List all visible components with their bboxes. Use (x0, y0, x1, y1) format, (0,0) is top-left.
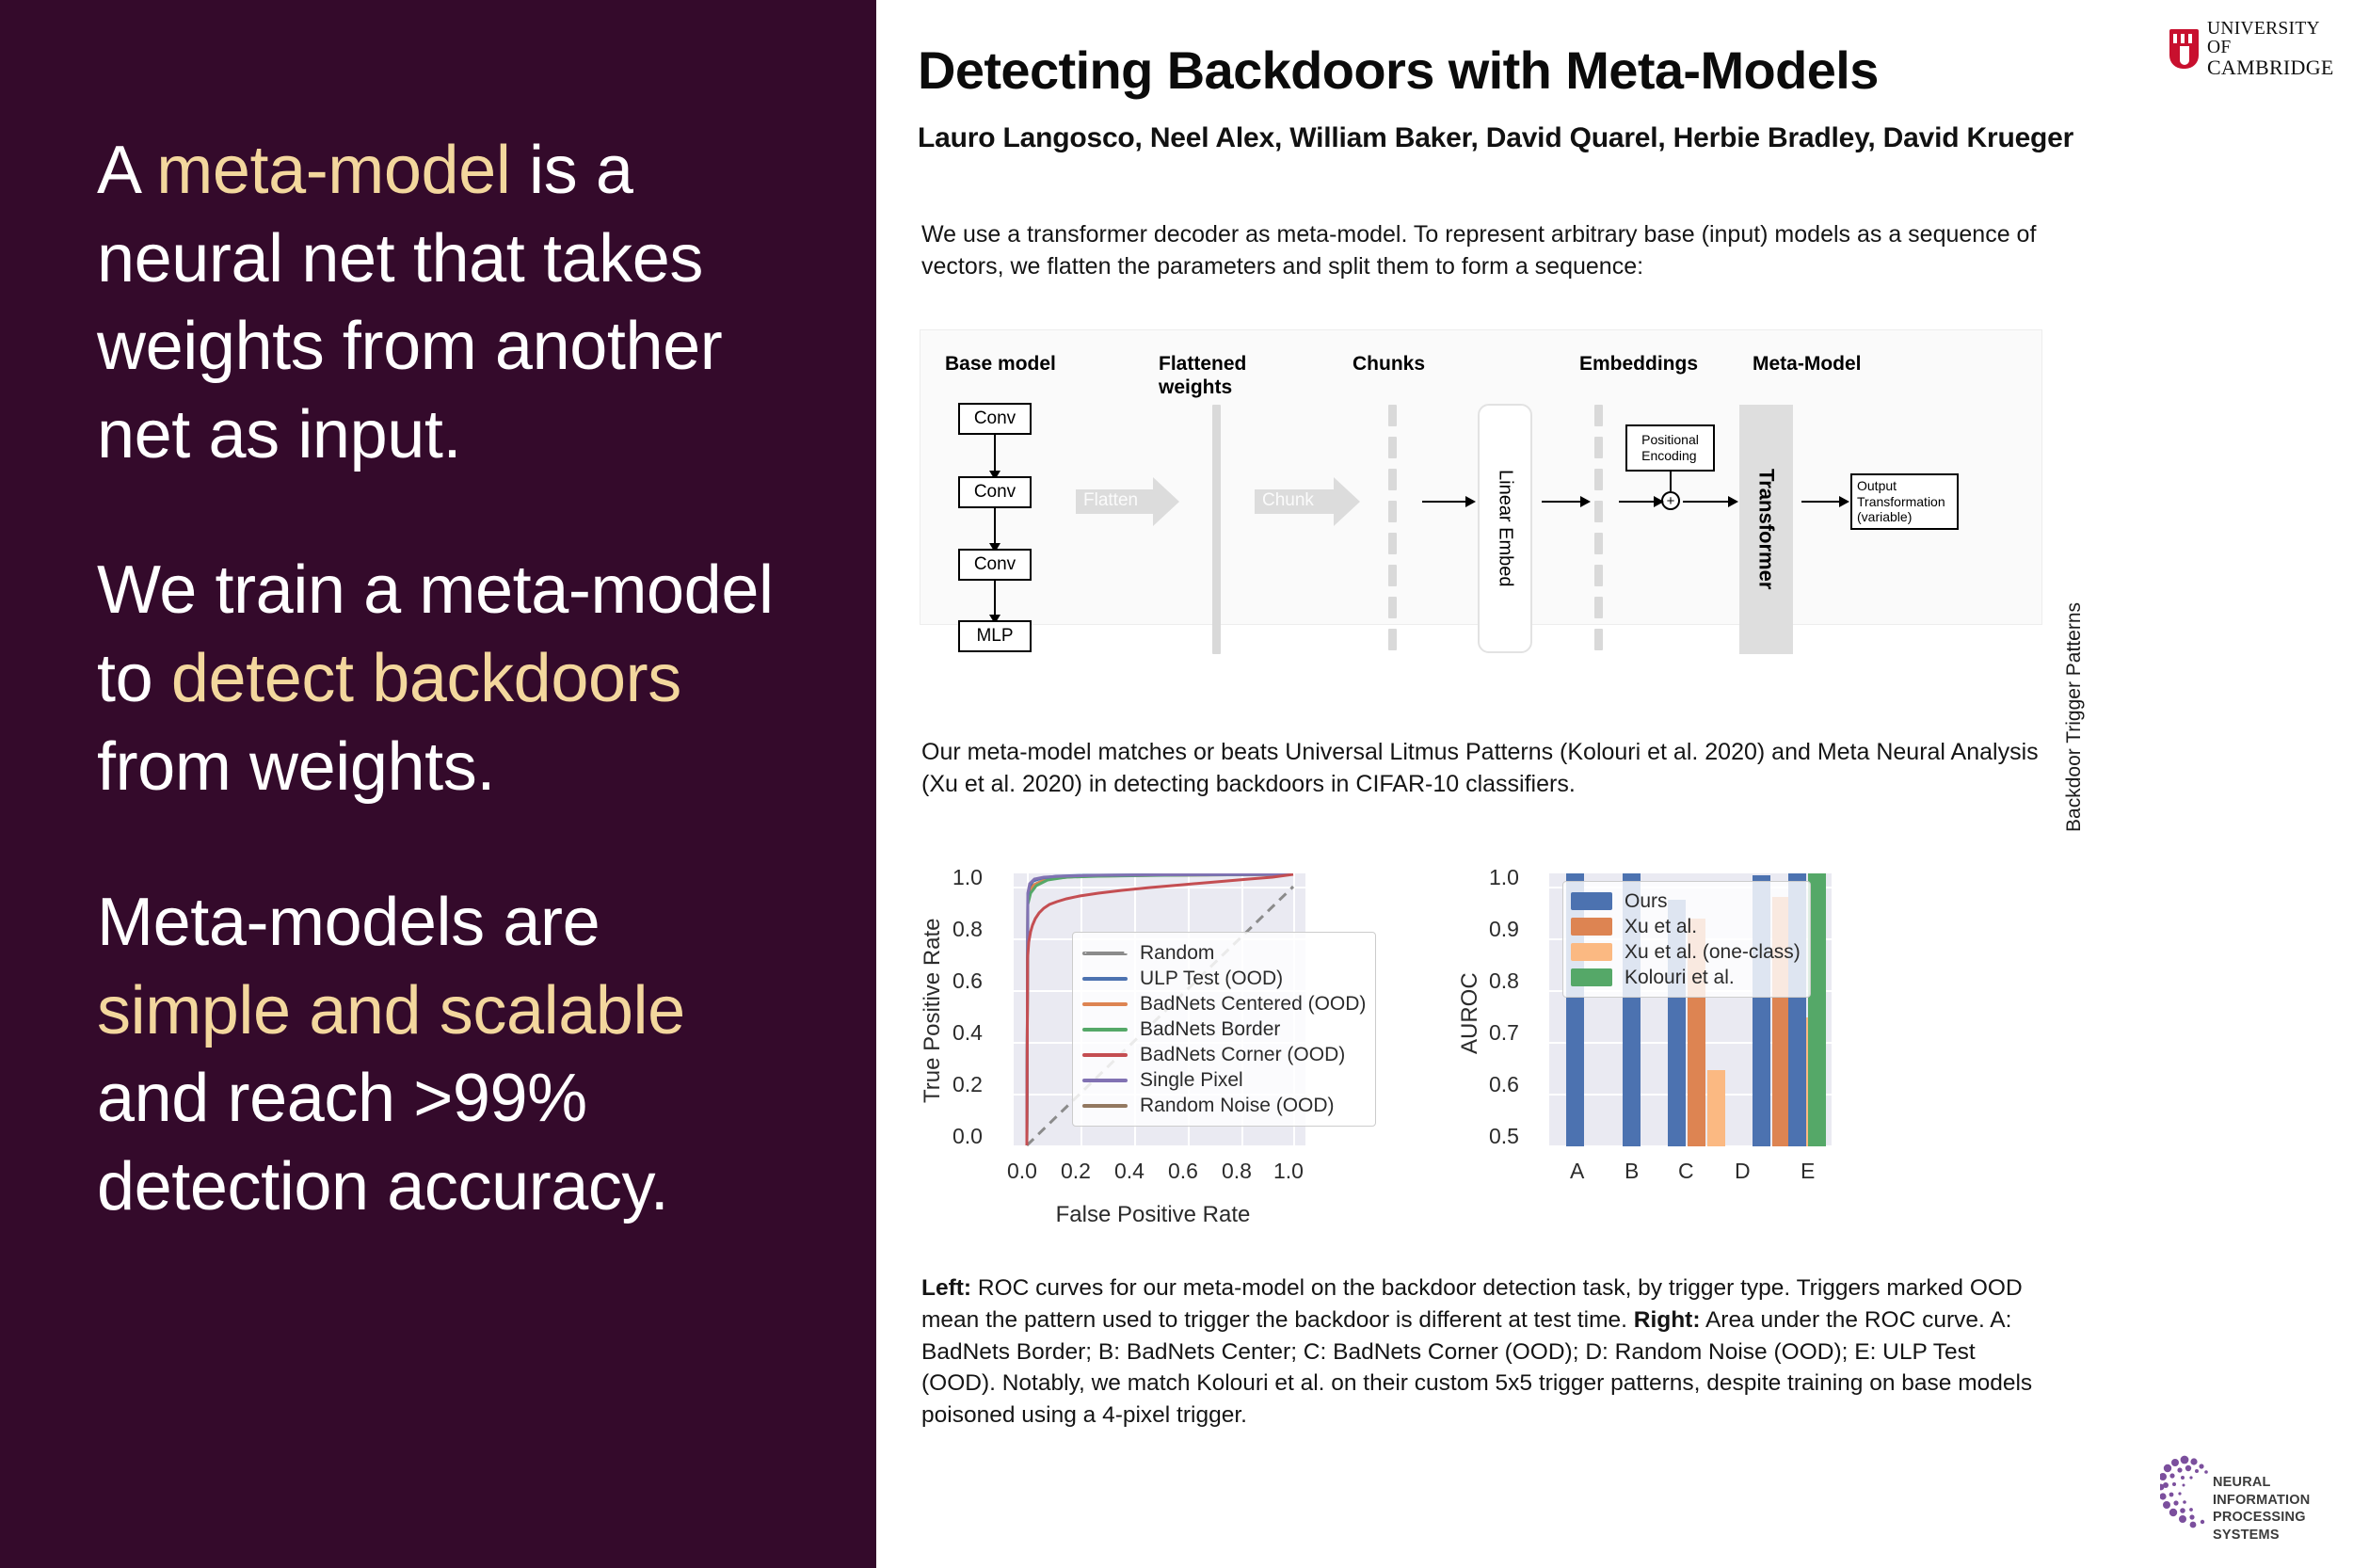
diagram-box-positional-encoding: Positional Encoding (1625, 424, 1715, 472)
diagram-connector-pe-plus (1670, 472, 1672, 491)
bar-legend-item-kolouri: Kolouri et al. (1571, 965, 1801, 990)
diagram-plus-node: + (1661, 491, 1680, 510)
architecture-diagram: Base model Flattened weights Chunks Embe… (920, 329, 2042, 625)
tagline-1: A meta-model is a neural net that takes … (97, 127, 782, 479)
legend-chip-ours (1571, 892, 1612, 910)
tagline-3-accent: simple and scalable (97, 973, 685, 1048)
bar-ytick-1: 0.6 (1489, 1072, 1519, 1097)
bar-legend: Ours Xu et al. Xu et al. (one-class) Kol… (1562, 881, 1811, 998)
bar-ytick-0: 0.5 (1489, 1124, 1519, 1149)
diagram-box-conv-3: Conv (958, 549, 1032, 581)
diagram-arrow-conv2-conv3 (994, 508, 996, 544)
sidebar-vertical-label: Backdoor Trigger Patterns (2063, 602, 2086, 832)
roc-legend-item-ulp: ULP Test (OOD) (1082, 966, 1366, 991)
diagram-chunks-column (1388, 405, 1397, 661)
page-title: Detecting Backdoors with Meta-Models (918, 40, 2132, 101)
roc-xtick-4: 0.8 (1222, 1159, 1252, 1184)
bar-ytick-3: 0.8 (1489, 968, 1519, 994)
diagram-heading-embeddings: Embeddings (1579, 353, 1698, 376)
tagline-1-accent: meta-model (156, 133, 510, 208)
auroc-bar-chart: AUROC 0.5 0.6 0.7 0.8 0.9 1.0 (1455, 847, 1926, 1242)
bar-E-kolouri (1808, 873, 1826, 1146)
diagram-arrow-plus-to-transformer (1683, 501, 1729, 503)
neurips-logo: NEURAL INFORMATION PROCESSING SYSTEMS (2160, 1449, 2348, 1534)
roc-legend-item-random-noise: Random Noise (OOD) (1082, 1093, 1366, 1118)
diagram-box-conv-2: Conv (958, 476, 1032, 508)
roc-xtick-3: 0.6 (1168, 1159, 1198, 1184)
main-content-column: Detecting Backdoors with Meta-Models Lau… (876, 0, 2147, 1568)
bar-ytick-4: 0.9 (1489, 917, 1519, 942)
diagram-box-mlp: MLP (958, 620, 1032, 652)
left-highlights-panel: A meta-model is a neural net that takes … (0, 0, 876, 1568)
roc-legend: Random ULP Test (OOD) BadNets Centered (… (1072, 932, 1376, 1127)
legend-chip-kolouri (1571, 968, 1612, 986)
neurips-swirl-icon (2160, 1455, 2217, 1528)
diagram-box-conv-1: Conv (958, 403, 1032, 435)
diagram-arrow-flatten: Flatten (1076, 477, 1179, 526)
diagram-arrow-conv1-conv2 (994, 435, 996, 472)
neurips-logo-line1: NEURAL INFORMATION (2213, 1474, 2348, 1509)
roc-legend-item-single-pixel: Single Pixel (1082, 1067, 1366, 1093)
neurips-logo-line2: PROCESSING SYSTEMS (2213, 1509, 2348, 1544)
bar-xtick-B: B (1625, 1159, 1639, 1184)
roc-curve-chart: True Positive Rate False Positive Rate 0… (920, 847, 1447, 1242)
roc-xtick-0: 0.0 (1007, 1159, 1037, 1184)
legend-swatch-random-noise (1082, 1104, 1128, 1108)
diagram-heading-flattened-weights: Flattened weights (1159, 353, 1246, 400)
diagram-embeddings-column (1594, 405, 1603, 661)
bar-xtick-E: E (1801, 1159, 1815, 1184)
roc-xtick-5: 1.0 (1273, 1159, 1304, 1184)
bar-ytick-2: 0.7 (1489, 1020, 1519, 1046)
results-paragraph: Our meta-model matches or beats Universa… (921, 736, 2041, 800)
roc-ytick-0: 0.0 (952, 1124, 983, 1149)
roc-ytick-5: 1.0 (952, 865, 983, 890)
legend-swatch-single-pixel (1082, 1079, 1128, 1082)
diagram-box-linear-embed: Linear Embed (1478, 404, 1532, 653)
legend-swatch-badnets-corner (1082, 1053, 1128, 1057)
diagram-arrow-chunk: Chunk (1255, 477, 1360, 526)
bar-C-xu-one-class (1707, 1070, 1725, 1146)
legend-chip-xu (1571, 918, 1612, 936)
bar-legend-item-xu: Xu et al. (1571, 914, 1801, 939)
legend-swatch-badnets-centered (1082, 1002, 1128, 1006)
bar-legend-item-ours: Ours (1571, 888, 1801, 914)
roc-legend-item-badnets-centered: BadNets Centered (OOD) (1082, 991, 1366, 1016)
bar-plot-area: Ours Xu et al. Xu et al. (one-class) Kol… (1549, 873, 1832, 1146)
bar-legend-item-xu-one-class: Xu et al. (one-class) (1571, 939, 1801, 965)
author-list: Lauro Langosco, Neel Alex, William Baker… (918, 122, 2141, 154)
diagram-heading-meta-model: Meta-Model (1753, 353, 1862, 376)
caption-left-label: Left: (921, 1275, 971, 1301)
roc-plot-area: Random ULP Test (OOD) BadNets Centered (… (1014, 873, 1305, 1146)
diagram-arrow-to-linear-embed (1422, 501, 1466, 503)
roc-xtick-2: 0.4 (1114, 1159, 1144, 1184)
diagram-arrow-into-plus (1619, 501, 1655, 503)
intro-paragraph: We use a transformer decoder as meta-mod… (921, 218, 2041, 282)
diagram-heading-chunks: Chunks (1353, 353, 1425, 376)
bar-xtick-A: A (1570, 1159, 1584, 1184)
legend-chip-xu-one-class (1571, 943, 1612, 961)
legend-swatch-badnets-border (1082, 1028, 1128, 1032)
bar-y-axis-label: AUROC (1457, 932, 1483, 1054)
diagram-flattened-weights-bar (1212, 405, 1221, 654)
diagram-arrow-conv3-mlp (994, 581, 996, 616)
tagline-2: We train a meta-model to detect backdoor… (97, 547, 782, 811)
roc-legend-item-random: Random (1082, 940, 1366, 966)
legend-swatch-ulp (1082, 977, 1128, 981)
roc-xtick-1: 0.2 (1061, 1159, 1091, 1184)
diagram-box-transformer: Transformer (1739, 405, 1793, 654)
roc-ytick-2: 0.4 (952, 1020, 983, 1046)
legend-swatch-random (1082, 952, 1128, 955)
tagline-2-accent: detect backdoors (171, 641, 681, 716)
bar-xtick-C: C (1678, 1159, 1694, 1184)
diagram-box-output-transformation: Output Transformation (variable) (1850, 473, 1959, 530)
roc-legend-item-badnets-corner: BadNets Corner (OOD) (1082, 1042, 1366, 1067)
caption-right-label: Right: (1634, 1307, 1701, 1333)
trigger-patterns-sidebar: 4-pixel patch (BadNets) Single pixel pat… (2147, 0, 2353, 1568)
diagram-heading-base-model: Base model (945, 353, 1056, 376)
bar-xtick-D: D (1735, 1159, 1751, 1184)
tagline-3: Meta-models are simple and scalable and … (97, 879, 782, 1231)
roc-ytick-3: 0.6 (952, 968, 983, 994)
roc-x-axis-label: False Positive Rate (1002, 1202, 1304, 1228)
roc-legend-item-badnets-border: BadNets Border (1082, 1016, 1366, 1042)
figure-caption: Left: ROC curves for our meta-model on t… (921, 1272, 2046, 1432)
roc-y-axis-label: True Positive Rate (920, 887, 946, 1103)
diagram-arrow-to-output (1801, 501, 1840, 503)
roc-ytick-4: 0.8 (952, 917, 983, 942)
roc-ytick-1: 0.2 (952, 1072, 983, 1097)
diagram-arrow-to-embeddings (1542, 501, 1581, 503)
bar-ytick-5: 1.0 (1489, 865, 1519, 890)
